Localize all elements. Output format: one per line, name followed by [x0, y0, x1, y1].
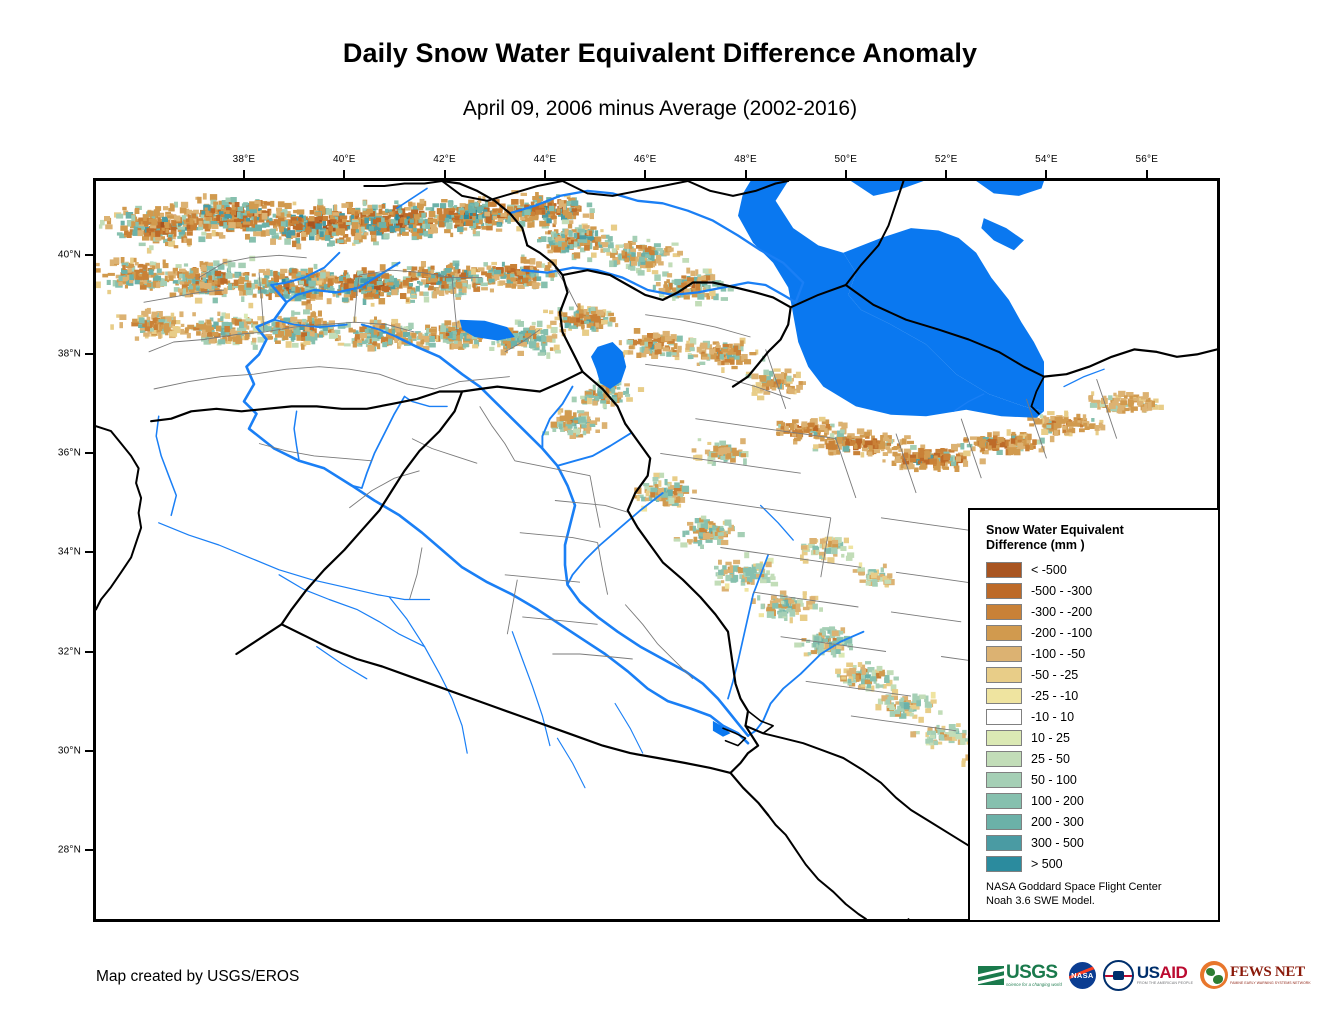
latitude-tick: [85, 651, 93, 653]
longitude-tick: [1045, 170, 1047, 178]
longitude-label: 56°E: [1135, 154, 1158, 165]
legend-color-swatch: [986, 625, 1022, 641]
legend-color-swatch: [986, 856, 1022, 872]
legend-color-swatch: [986, 688, 1022, 704]
legend-class-row: -50 - -25: [986, 664, 1218, 685]
longitude-label: 46°E: [634, 154, 657, 165]
legend-class-label: 25 - 50: [1031, 752, 1070, 766]
legend-color-swatch: [986, 562, 1022, 578]
legend-color-swatch: [986, 646, 1022, 662]
latitude-tick: [85, 750, 93, 752]
longitude-tick: [845, 170, 847, 178]
latitude-label: 38°N: [39, 349, 81, 360]
legend-class-row: 100 - 200: [986, 790, 1218, 811]
legend-class-row: 50 - 100: [986, 769, 1218, 790]
legend-class-label: 100 - 200: [1031, 794, 1084, 808]
legend-color-swatch: [986, 751, 1022, 767]
legend-class-label: -100 - -50: [1031, 647, 1085, 661]
legend-class-label: -500 - -300: [1031, 584, 1092, 598]
legend-class-row: < -500: [986, 559, 1218, 580]
latitude-label: 30°N: [39, 745, 81, 756]
longitude-label: 54°E: [1035, 154, 1058, 165]
longitude-label: 40°E: [333, 154, 356, 165]
legend-class-row: -300 - -200: [986, 601, 1218, 622]
legend-class-label: -300 - -200: [1031, 605, 1092, 619]
usaid-seal-icon: [1103, 960, 1134, 991]
nasa-meatball-icon: NASA: [1069, 962, 1096, 989]
latitude-tick: [85, 452, 93, 454]
longitude-tick: [243, 170, 245, 178]
usaid-logo-tagline: FROM THE AMERICAN PEOPLE: [1137, 982, 1193, 986]
longitude-tick: [644, 170, 646, 178]
legend-class-label: 200 - 300: [1031, 815, 1084, 829]
usgs-logo: USGS science for a changing world: [978, 958, 1062, 992]
longitude-tick: [745, 170, 747, 178]
longitude-tick: [444, 170, 446, 178]
latitude-label: 34°N: [39, 547, 81, 558]
legend-color-swatch: [986, 730, 1022, 746]
longitude-label: 50°E: [835, 154, 858, 165]
latitude-tick: [85, 254, 93, 256]
latitude-label: 40°N: [39, 250, 81, 261]
legend-class-row: -10 - 10: [986, 706, 1218, 727]
legend-class-row: 300 - 500: [986, 832, 1218, 853]
legend-title-line1: Snow Water Equivalent: [986, 523, 1186, 538]
nasa-logo-text: NASA: [1071, 971, 1093, 980]
legend-class-label: -10 - 10: [1031, 710, 1074, 724]
usaid-logo-text: USAID: [1137, 964, 1193, 981]
legend-color-swatch: [986, 814, 1022, 830]
longitude-label: 38°E: [233, 154, 256, 165]
usgs-logo-tagline: science for a changing world: [1006, 983, 1062, 987]
map-legend: Snow Water Equivalent Difference (mm ) <…: [968, 508, 1220, 922]
legend-color-swatch: [986, 772, 1022, 788]
usaid-logo: USAID FROM THE AMERICAN PEOPLE: [1103, 958, 1193, 992]
longitude-tick: [945, 170, 947, 178]
usaid-handshake-icon: [1113, 971, 1124, 980]
legend-class-row: 10 - 25: [986, 727, 1218, 748]
legend-class-row: -100 - -50: [986, 643, 1218, 664]
map-credit: Map created by USGS/EROS: [96, 968, 299, 986]
longitude-label: 48°E: [734, 154, 757, 165]
legend-class-row: 200 - 300: [986, 811, 1218, 832]
legend-class-row: > 500: [986, 853, 1218, 874]
latitude-label: 32°N: [39, 646, 81, 657]
fews-net-logo: FEWS NET FAMINE EARLY WARNING SYSTEMS NE…: [1200, 958, 1311, 992]
legend-color-swatch: [986, 604, 1022, 620]
legend-class-label: 50 - 100: [1031, 773, 1077, 787]
legend-class-row: 25 - 50: [986, 748, 1218, 769]
fews-globe-icon: [1200, 961, 1228, 989]
legend-title: Snow Water Equivalent Difference (mm ): [986, 523, 1186, 553]
legend-color-swatch: [986, 793, 1022, 809]
legend-color-swatch: [986, 709, 1022, 725]
legend-class-label: > 500: [1031, 857, 1063, 871]
latitude-tick: [85, 849, 93, 851]
nasa-logo: NASA: [1069, 958, 1096, 992]
legend-source-note: NASA Goddard Space Flight Center Noah 3.…: [986, 881, 1161, 908]
latitude-tick: [85, 551, 93, 553]
legend-class-row: -500 - -300: [986, 580, 1218, 601]
longitude-label: 52°E: [935, 154, 958, 165]
longitude-tick: [1146, 170, 1148, 178]
legend-class-label: 300 - 500: [1031, 836, 1084, 850]
fews-net-logo-tagline: FAMINE EARLY WARNING SYSTEMS NETWORK: [1230, 982, 1311, 985]
legend-class-list: < -500-500 - -300-300 - -200-200 - -100-…: [986, 559, 1218, 874]
legend-color-swatch: [986, 583, 1022, 599]
fews-net-logo-text: FEWS NET: [1230, 965, 1311, 980]
legend-color-swatch: [986, 835, 1022, 851]
legend-class-label: -200 - -100: [1031, 626, 1092, 640]
legend-color-swatch: [986, 667, 1022, 683]
latitude-tick: [85, 353, 93, 355]
longitude-label: 44°E: [534, 154, 557, 165]
latitude-label: 28°N: [39, 844, 81, 855]
longitude-tick: [343, 170, 345, 178]
legend-class-label: 10 - 25: [1031, 731, 1070, 745]
longitude-tick: [544, 170, 546, 178]
legend-class-label: -50 - -25: [1031, 668, 1078, 682]
legend-class-row: -25 - -10: [986, 685, 1218, 706]
agency-logo-row: USGS science for a changing world NASA U…: [978, 955, 1311, 995]
longitude-label: 42°E: [433, 154, 456, 165]
legend-class-label: -25 - -10: [1031, 689, 1078, 703]
usgs-logo-text: USGS: [1006, 963, 1062, 982]
usgs-wave-icon: [978, 966, 1004, 985]
legend-title-line2: Difference (mm ): [986, 538, 1186, 553]
latitude-label: 36°N: [39, 448, 81, 459]
legend-class-label: < -500: [1031, 563, 1067, 577]
page-title: Daily Snow Water Equivalent Difference A…: [0, 38, 1320, 69]
legend-class-row: -200 - -100: [986, 622, 1218, 643]
page-subtitle: April 09, 2006 minus Average (2002-2016): [0, 97, 1320, 121]
